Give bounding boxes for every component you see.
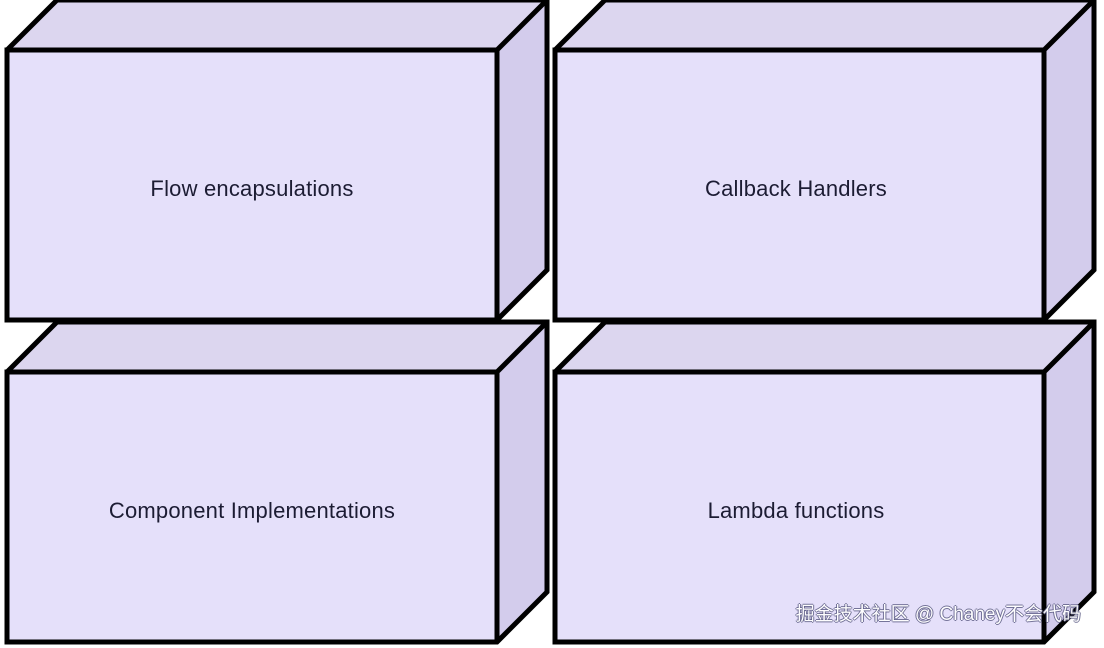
box-front-face [7, 50, 497, 320]
box-top-face [555, 322, 1094, 372]
box-lambda-functions[interactable] [555, 322, 1094, 642]
box-side-face [1044, 322, 1094, 642]
box-grid-svg [0, 0, 1104, 648]
box-front-face [7, 372, 497, 642]
box-top-face [7, 0, 547, 50]
box-flow-encapsulations[interactable] [7, 0, 547, 320]
box-component-implementations[interactable] [7, 322, 547, 642]
watermark-text: 掘金技术社区 @ Chaney不会代码 [796, 599, 1081, 626]
box-side-face [1044, 0, 1094, 320]
diagram-canvas: Flow encapsulations Callback Handlers Co… [0, 0, 1104, 648]
box-top-face [555, 0, 1094, 50]
box-callback-handlers[interactable] [555, 0, 1094, 320]
box-top-face [7, 322, 547, 372]
box-side-face [497, 322, 547, 642]
box-side-face [497, 0, 547, 320]
box-front-face [555, 50, 1044, 320]
